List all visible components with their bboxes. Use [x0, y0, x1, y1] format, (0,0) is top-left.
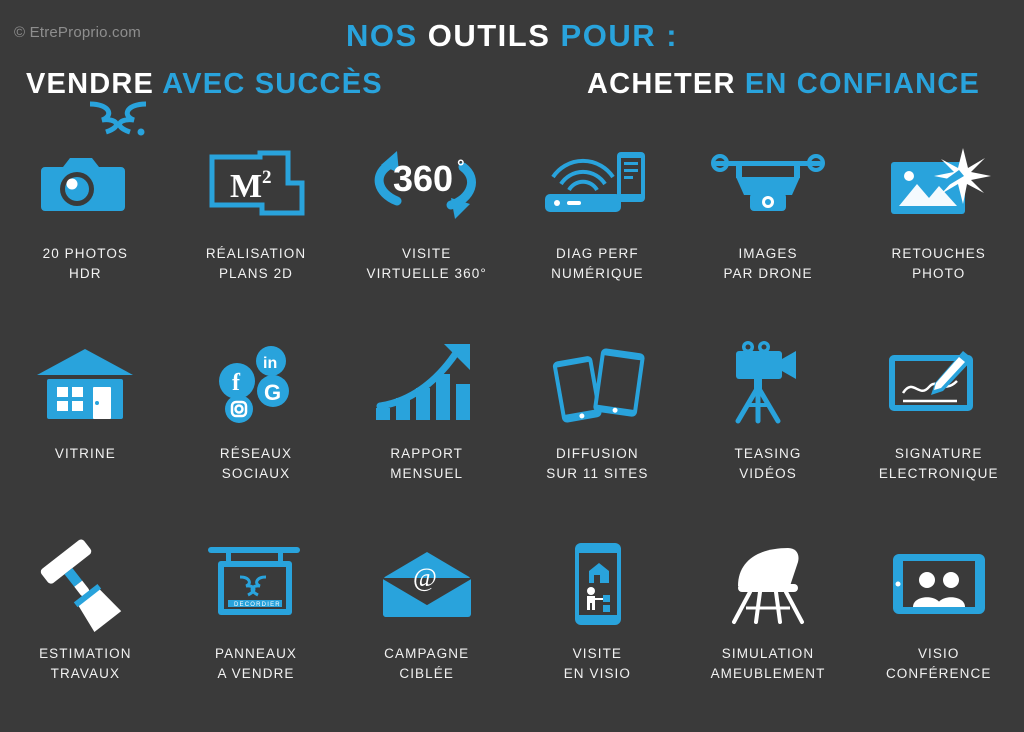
tool-cell[interactable]: SIMULATION AMEUBLEMENT — [683, 532, 854, 732]
tool-caption: 20 PHOTOS HDR — [43, 244, 128, 283]
tool-caption-line1: SIGNATURE — [879, 444, 999, 464]
tool-caption: RETOUCHES PHOTO — [891, 244, 985, 283]
tool-caption-line2: EN VISIO — [564, 664, 631, 684]
tool-caption: RAPPORT MENSUEL — [390, 444, 463, 483]
router-smartphone-icon — [527, 136, 667, 232]
email-envelope-icon: @ — [357, 536, 497, 632]
tool-caption-line2: VIRTUELLE 360° — [367, 264, 487, 284]
camera-icon — [15, 136, 155, 232]
house-shopfront-icon — [15, 336, 155, 432]
tool-caption: IMAGES PAR DRONE — [723, 244, 812, 283]
tablet-conference-icon — [869, 536, 1009, 632]
floorplan-m2-icon: M 2 — [186, 136, 326, 232]
svg-text:f: f — [232, 370, 241, 396]
tool-caption-line1: DIFFUSION — [546, 444, 648, 464]
tool-caption-line1: PANNEAUX — [215, 644, 297, 664]
tool-caption: ESTIMATION TRAVAUX — [39, 644, 132, 683]
tool-caption-line2: PAR DRONE — [723, 264, 812, 284]
title-part-3: POUR : — [550, 18, 678, 53]
tool-cell[interactable]: IMAGES PAR DRONE — [683, 132, 854, 332]
tool-caption: TEASING VIDÉOS — [735, 444, 802, 483]
tool-caption-line1: VISIO — [886, 644, 992, 664]
tool-caption-line2: HDR — [43, 264, 128, 284]
tool-caption-line1: RÉALISATION — [206, 244, 306, 264]
360-arrows-icon: 360 ° — [357, 136, 497, 232]
tools-row-3: ESTIMATION TRAVAUX DECORDIER — [0, 532, 1024, 732]
tool-caption-line2: SUR 11 SITES — [546, 464, 648, 484]
tool-cell[interactable]: RETOUCHES PHOTO — [853, 132, 1024, 332]
paint-roller-icon — [15, 536, 155, 632]
svg-text:2: 2 — [262, 167, 272, 188]
tool-caption: VITRINE — [55, 444, 116, 464]
tool-caption-line2: AMEUBLEMENT — [711, 664, 826, 684]
tool-cell[interactable]: ESTIMATION TRAVAUX — [0, 532, 171, 732]
tool-caption-line2: CONFÉRENCE — [886, 664, 992, 684]
tool-caption-line1: RAPPORT — [390, 444, 463, 464]
tool-caption-line2: PHOTO — [891, 264, 985, 284]
subtitle-right: ACHETER EN CONFIANCE — [503, 68, 998, 101]
tool-caption-line1: SIMULATION — [711, 644, 826, 664]
tool-caption-line2: ELECTRONIQUE — [879, 464, 999, 484]
tool-caption-line1: RÉSEAUX — [220, 444, 292, 464]
tools-row-1: 20 PHOTOS HDR M 2 RÉALISATION PLANS 2D — [0, 132, 1024, 332]
title-part-1: NOS — [346, 18, 428, 53]
drone-icon — [698, 136, 838, 232]
svg-text:@: @ — [413, 563, 437, 592]
svg-text:360: 360 — [393, 158, 453, 199]
tools-row-2: VITRINE in f G RÉSEAUX — [0, 332, 1024, 532]
tool-caption: RÉALISATION PLANS 2D — [206, 244, 306, 283]
tool-cell[interactable]: 360 ° VISITE VIRTUELLE 360° — [341, 132, 512, 332]
tool-caption-line1: 20 PHOTOS — [43, 244, 128, 264]
tool-caption-line2: MENSUEL — [390, 464, 463, 484]
tool-caption: SIMULATION AMEUBLEMENT — [711, 644, 826, 683]
tool-cell[interactable]: TEASING VIDÉOS — [683, 332, 854, 532]
tool-cell[interactable]: RAPPORT MENSUEL — [341, 332, 512, 532]
subtitle-right-white: ACHETER — [587, 68, 736, 100]
tool-caption-line1: DIAG PERF — [551, 244, 643, 264]
tool-caption: DIAG PERF NUMÉRIQUE — [551, 244, 643, 283]
for-sale-sign-icon: DECORDIER — [186, 536, 326, 632]
tool-caption-line2: NUMÉRIQUE — [551, 264, 643, 284]
tool-caption-line1: CAMPAGNE — [384, 644, 469, 664]
title-part-2: OUTILS — [428, 18, 551, 53]
tool-caption-line1: VITRINE — [55, 444, 116, 464]
photo-retouch-icon — [869, 136, 1009, 232]
tool-caption-line1: RETOUCHES — [891, 244, 985, 264]
tool-caption: VISIO CONFÉRENCE — [886, 644, 992, 683]
signature-tablet-icon — [869, 336, 1009, 432]
svg-text:DECORDIER: DECORDIER — [234, 602, 281, 608]
page-title: NOS OUTILS POUR : — [0, 0, 1024, 54]
bar-chart-arrow-icon — [357, 336, 497, 432]
tool-caption-line1: ESTIMATION — [39, 644, 132, 664]
social-networks-icon: in f G — [186, 336, 326, 432]
tool-caption: CAMPAGNE CIBLÉE — [384, 644, 469, 683]
subtitle-right-blue: EN CONFIANCE — [736, 68, 980, 100]
tools-grid: 20 PHOTOS HDR M 2 RÉALISATION PLANS 2D — [0, 132, 1024, 732]
video-camera-icon — [698, 336, 838, 432]
tool-caption-line2: PLANS 2D — [206, 264, 306, 284]
tool-caption-line2: A VENDRE — [215, 664, 297, 684]
tool-caption: VISITE VIRTUELLE 360° — [367, 244, 487, 283]
tool-cell[interactable]: SIGNATURE ELECTRONIQUE — [853, 332, 1024, 532]
tool-caption-line2: TRAVAUX — [39, 664, 132, 684]
tool-cell[interactable]: VITRINE — [0, 332, 171, 532]
tool-caption-line2: CIBLÉE — [384, 664, 469, 684]
tool-cell[interactable]: 20 PHOTOS HDR — [0, 132, 171, 332]
tool-caption-line1: VISITE — [564, 644, 631, 664]
tool-caption-line2: VIDÉOS — [735, 464, 802, 484]
chair-furniture-icon — [698, 536, 838, 632]
tool-cell[interactable]: in f G RÉSEAUX SOCIAUX — [171, 332, 342, 532]
tool-caption-line2: SOCIAUX — [220, 464, 292, 484]
svg-text:°: ° — [457, 157, 465, 178]
tool-cell[interactable]: VISIO CONFÉRENCE — [853, 532, 1024, 732]
svg-text:M: M — [230, 168, 262, 205]
svg-text:in: in — [263, 355, 277, 372]
watermark: © EtreProprio.com — [14, 24, 141, 41]
phone-virtual-visit-icon — [527, 536, 667, 632]
tool-cell[interactable]: DECORDIER PANNEAUX A VENDRE — [171, 532, 342, 732]
tablet-phone-icon — [527, 336, 667, 432]
tool-cell[interactable]: M 2 RÉALISATION PLANS 2D — [171, 132, 342, 332]
tool-caption: DIFFUSION SUR 11 SITES — [546, 444, 648, 483]
tool-cell[interactable]: DIFFUSION SUR 11 SITES — [512, 332, 683, 532]
tool-caption-line1: TEASING — [735, 444, 802, 464]
tool-caption: VISITE EN VISIO — [564, 644, 631, 683]
svg-text:G: G — [264, 380, 281, 405]
tool-caption-line1: IMAGES — [723, 244, 812, 264]
tool-caption: PANNEAUX A VENDRE — [215, 644, 297, 683]
tool-cell[interactable]: DIAG PERF NUMÉRIQUE — [512, 132, 683, 332]
tool-cell[interactable]: VISITE EN VISIO — [512, 532, 683, 732]
subtitle-left-blue: AVEC SUCCÈS — [154, 68, 383, 100]
tool-caption: RÉSEAUX SOCIAUX — [220, 444, 292, 483]
tool-caption-line1: VISITE — [367, 244, 487, 264]
tool-caption: SIGNATURE ELECTRONIQUE — [879, 444, 999, 483]
tool-cell[interactable]: @ CAMPAGNE CIBLÉE — [341, 532, 512, 732]
